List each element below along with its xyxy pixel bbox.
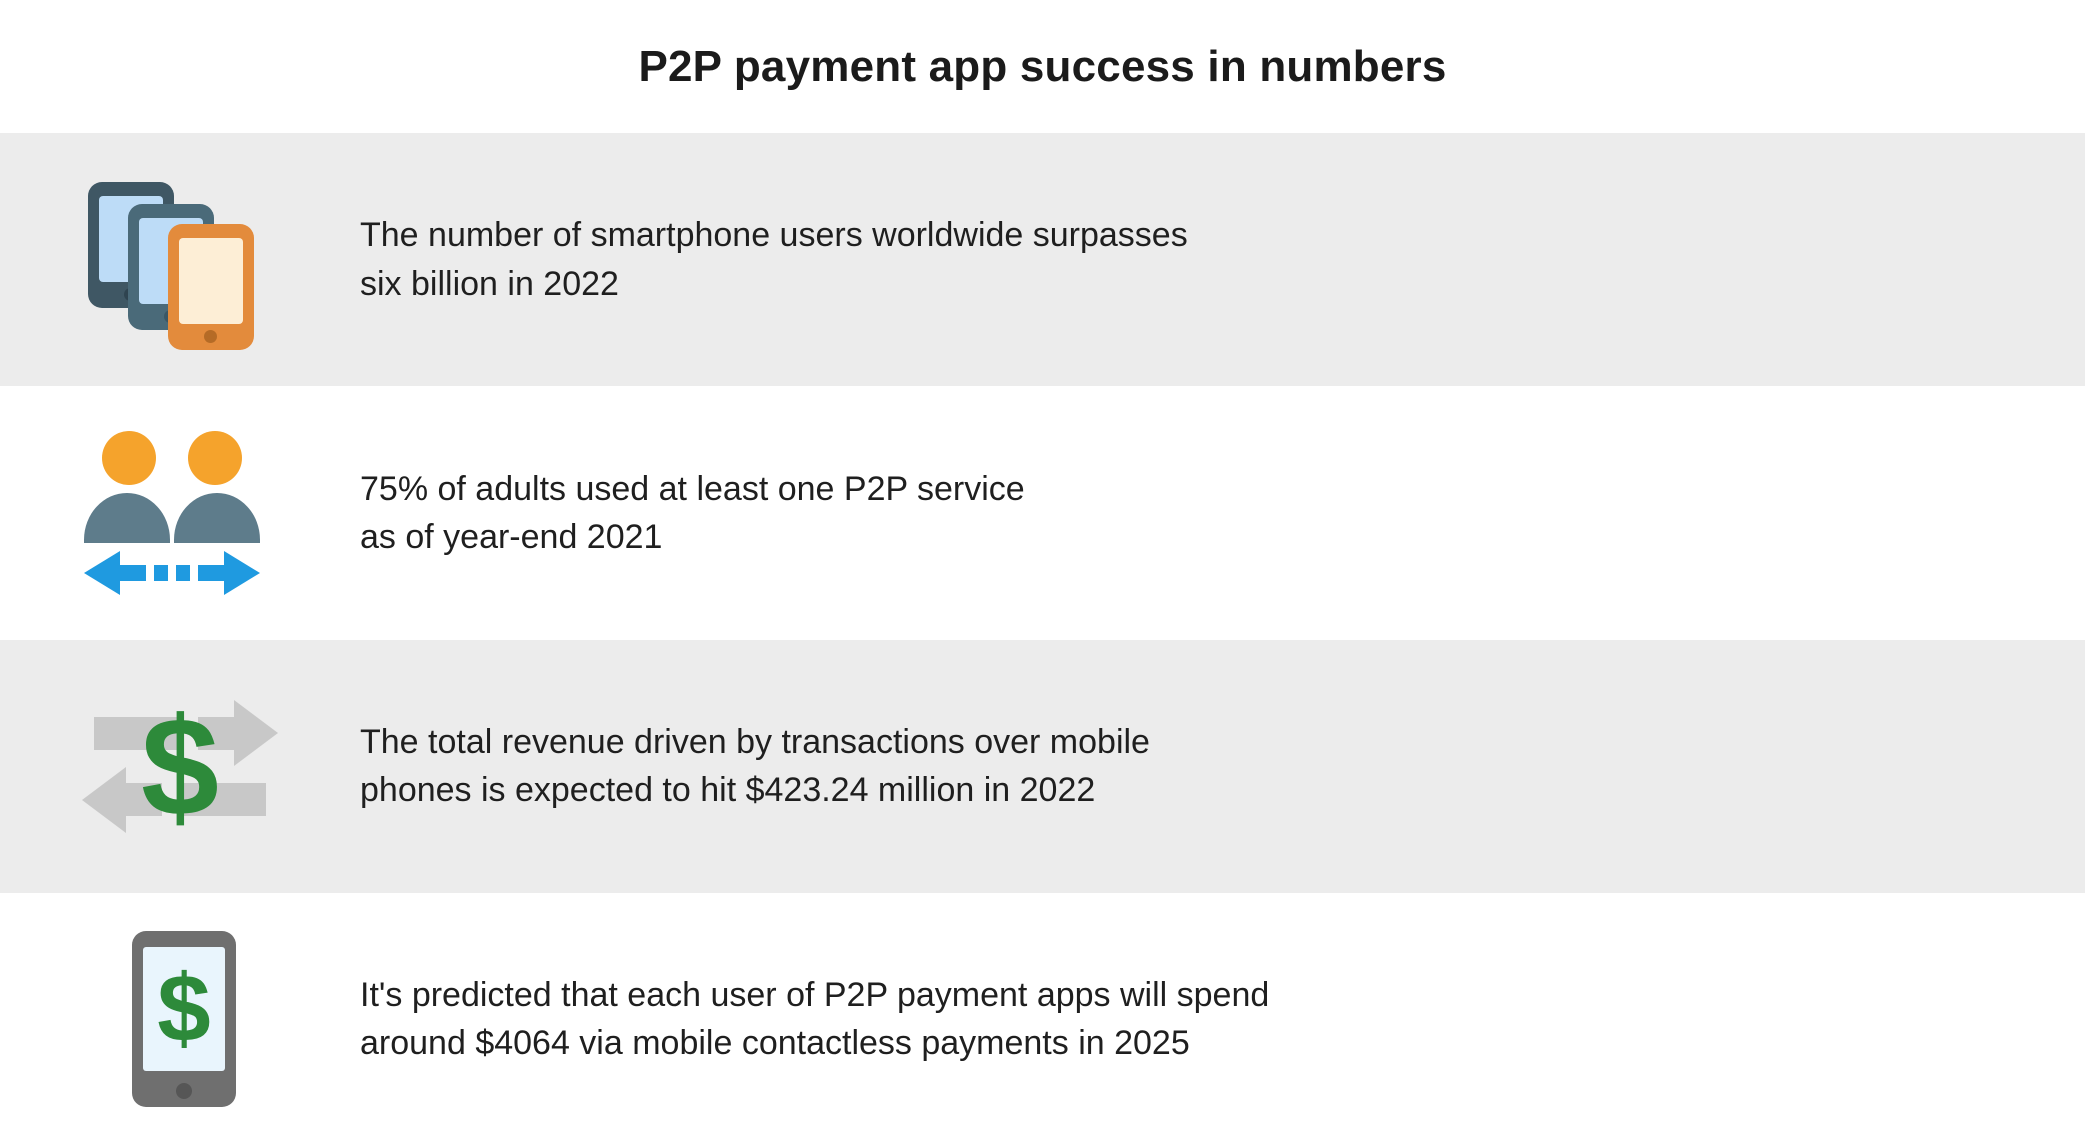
phone-screen — [179, 238, 243, 324]
fact-row: 75% of adults used at least one P2P serv… — [0, 386, 2085, 639]
phone-front-icon — [168, 224, 254, 350]
fact-line-1: 75% of adults used at least one P2P serv… — [360, 465, 2025, 513]
fact-text-cell: The total revenue driven by transactions… — [360, 718, 2085, 815]
mobile-payment-dollar-icon: $ — [80, 919, 280, 1119]
phones-group — [88, 182, 278, 342]
page-title: P2P payment app success in numbers — [638, 42, 1446, 92]
fact-text-cell: 75% of adults used at least one P2P serv… — [360, 465, 2085, 562]
fact-row: The number of smartphone users worldwide… — [0, 133, 2085, 386]
pay-phone-group: $ — [132, 931, 236, 1107]
person-head-right-icon — [188, 431, 242, 485]
bidirectional-arrow-icon — [84, 551, 260, 595]
dollar-sign-icon: $ — [143, 947, 225, 1071]
fact-line-2: phones is expected to hit $423.24 millio… — [360, 766, 2025, 814]
fact-icon-cell — [0, 133, 360, 386]
person-body-right-icon — [174, 493, 260, 543]
money-transfer-dollar-icon: $ — [80, 666, 280, 866]
arrow-dash — [198, 565, 226, 581]
arrow-dash — [176, 565, 190, 581]
two-people-exchange-icon — [80, 413, 280, 613]
phone-home-button — [176, 1083, 192, 1099]
facts-list: The number of smartphone users worldwide… — [0, 133, 2085, 1146]
dollar-sign-icon: $ — [80, 697, 280, 837]
arrow-dash — [118, 565, 146, 581]
fact-line-1: The total revenue driven by transactions… — [360, 718, 2025, 766]
arrow-left-head — [84, 551, 120, 595]
fact-icon-cell: $ — [0, 893, 360, 1146]
fact-text-cell: It's predicted that each user of P2P pay… — [360, 971, 2085, 1068]
fact-row: $ The total revenue driven by transactio… — [0, 640, 2085, 893]
person-body-left-icon — [84, 493, 170, 543]
arrow-dash — [154, 565, 168, 581]
fact-line-2: six billion in 2022 — [360, 260, 2025, 308]
fact-line-2: as of year-end 2021 — [360, 513, 2025, 561]
title-area: P2P payment app success in numbers — [0, 0, 2085, 133]
money-transfer-group: $ — [80, 694, 280, 839]
person-head-left-icon — [102, 431, 156, 485]
fact-line-2: around $4064 via mobile contactless paym… — [360, 1019, 2025, 1067]
infographic-root: P2P payment app success in numbers — [0, 0, 2085, 1146]
arrow-right-head — [224, 551, 260, 595]
fact-icon-cell: $ — [0, 640, 360, 893]
fact-line-1: It's predicted that each user of P2P pay… — [360, 971, 2025, 1019]
fact-text-cell: The number of smartphone users worldwide… — [360, 211, 2085, 308]
fact-line-1: The number of smartphone users worldwide… — [360, 211, 2025, 259]
fact-row: $ It's predicted that each user of P2P p… — [0, 893, 2085, 1146]
fact-icon-cell — [0, 386, 360, 639]
smartphones-stack-icon — [80, 160, 280, 360]
phone-home-button — [204, 330, 217, 343]
people-group — [84, 431, 274, 596]
